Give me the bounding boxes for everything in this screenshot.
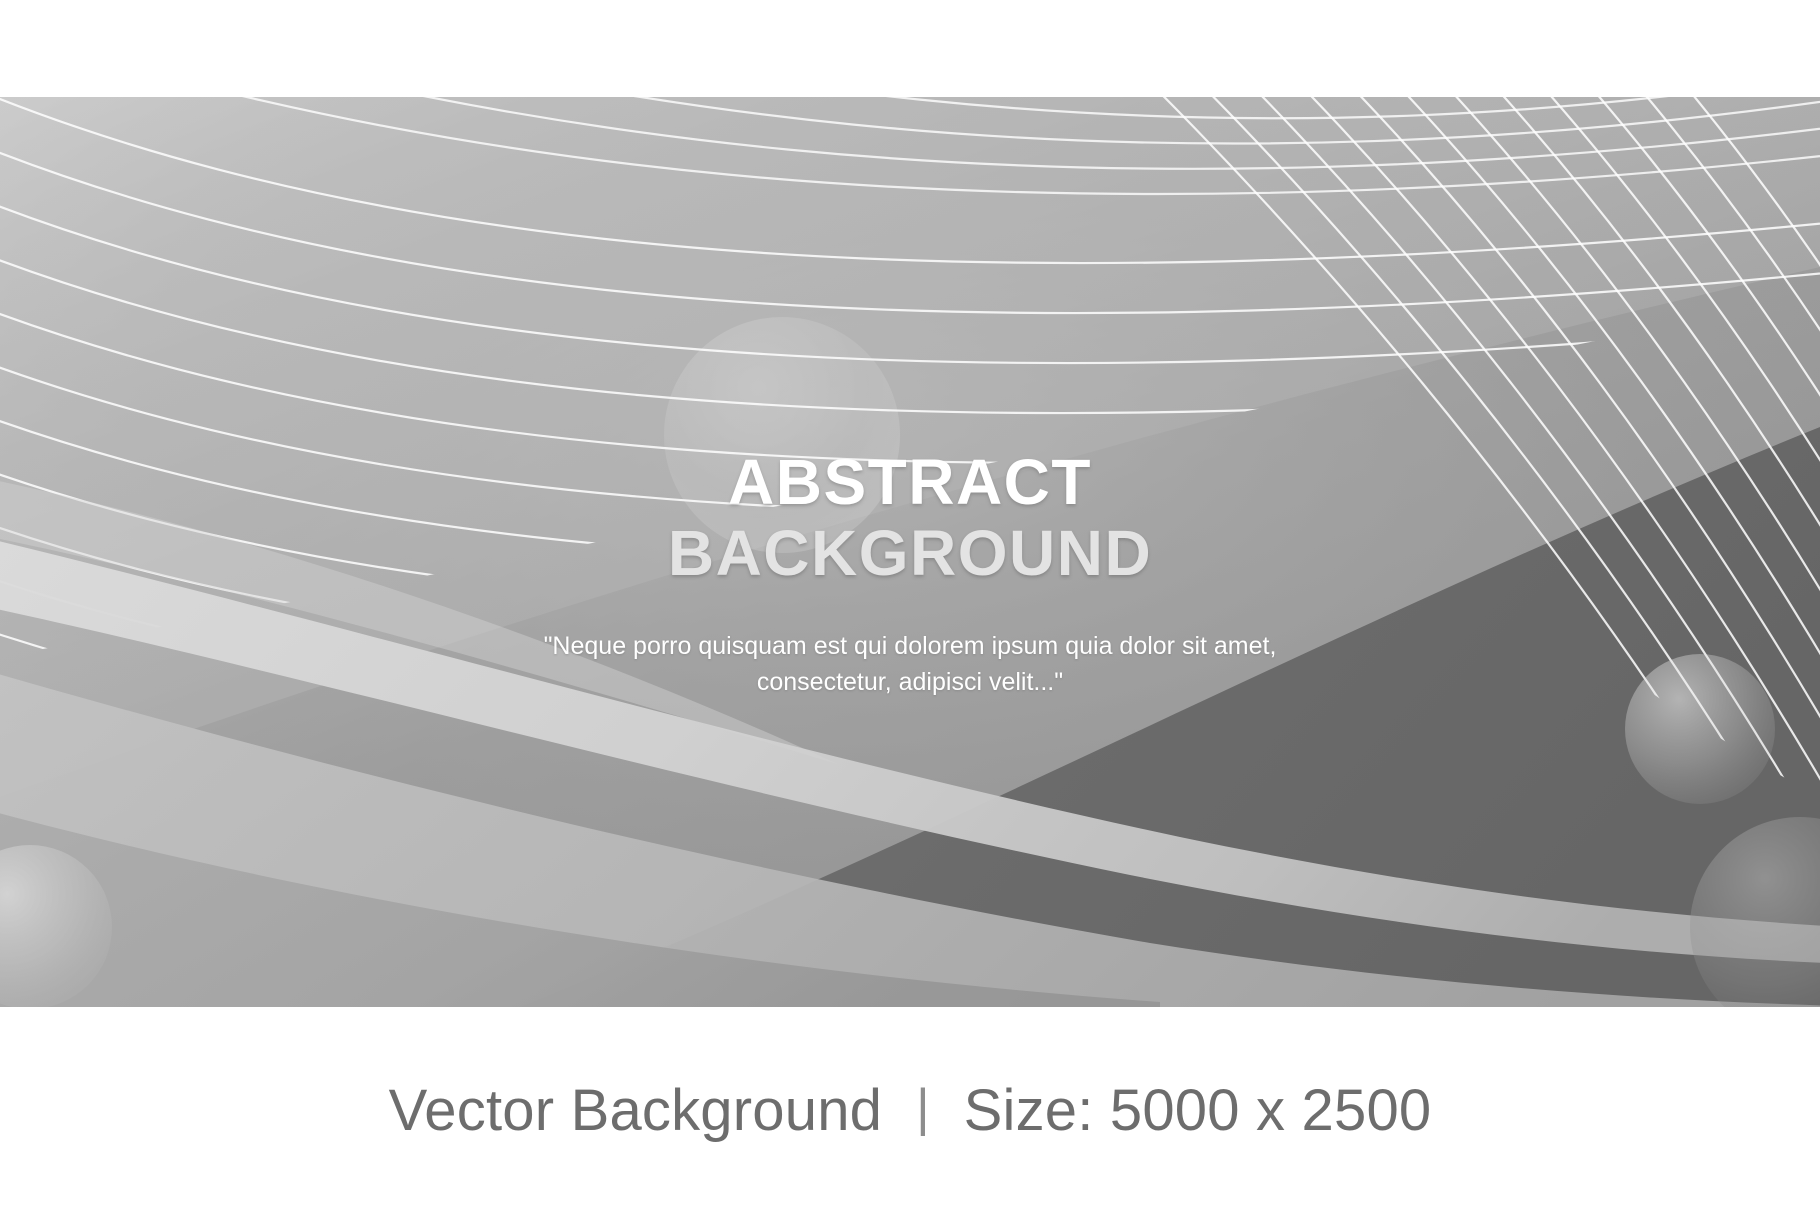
caption-label: Vector Background — [389, 1077, 882, 1144]
banner-vector-graphic — [0, 97, 1820, 1007]
page-root: ABSTRACT BACKGROUND "Neque porro quisqua… — [0, 0, 1820, 1214]
caption-size: Size: 5000 x 2500 — [964, 1077, 1432, 1144]
sphere-centre-behind-title — [664, 317, 900, 553]
caption-separator-icon: | — [882, 1078, 964, 1138]
banner-layers — [0, 97, 1820, 1007]
caption-bar: Vector Background | Size: 5000 x 2500 — [0, 1007, 1820, 1214]
abstract-banner-artwork: ABSTRACT BACKGROUND "Neque porro quisqua… — [0, 97, 1820, 1007]
sphere-right-small — [1625, 654, 1775, 804]
